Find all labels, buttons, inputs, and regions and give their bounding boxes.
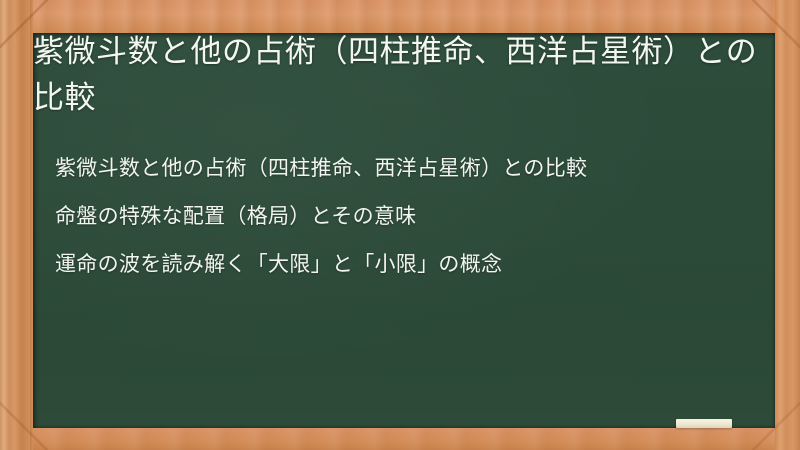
frame-left-rail <box>0 0 33 450</box>
chalk-stick <box>676 419 732 428</box>
list-item: 紫微斗数と他の占術（四柱推命、西洋占星術）との比較 <box>55 151 755 185</box>
chalkboard-surface: 紫微斗数と他の占術（四柱推命、西洋占星術）との比較 紫微斗数と他の占術（四柱推命… <box>33 33 775 428</box>
chalkboard-slide: 紫微斗数と他の占術（四柱推命、西洋占星術）との比較 紫微斗数と他の占術（四柱推命… <box>0 0 800 450</box>
frame-bottom-ledge <box>0 428 800 450</box>
list-item: 運命の波を読み解く「大限」と「小限」の概念 <box>55 247 755 281</box>
board-content: 紫微斗数と他の占術（四柱推命、西洋占星術）との比較 紫微斗数と他の占術（四柱推命… <box>33 33 775 428</box>
frame-top-rail <box>0 0 800 33</box>
list-item: 命盤の特殊な配置（格局）とその意味 <box>55 199 755 233</box>
frame-right-rail <box>775 0 800 450</box>
slide-title: 紫微斗数と他の占術（四柱推命、西洋占星術）との比較 <box>33 33 765 121</box>
topic-list: 紫微斗数と他の占術（四柱推命、西洋占星術）との比較 命盤の特殊な配置（格局）とそ… <box>55 151 755 281</box>
